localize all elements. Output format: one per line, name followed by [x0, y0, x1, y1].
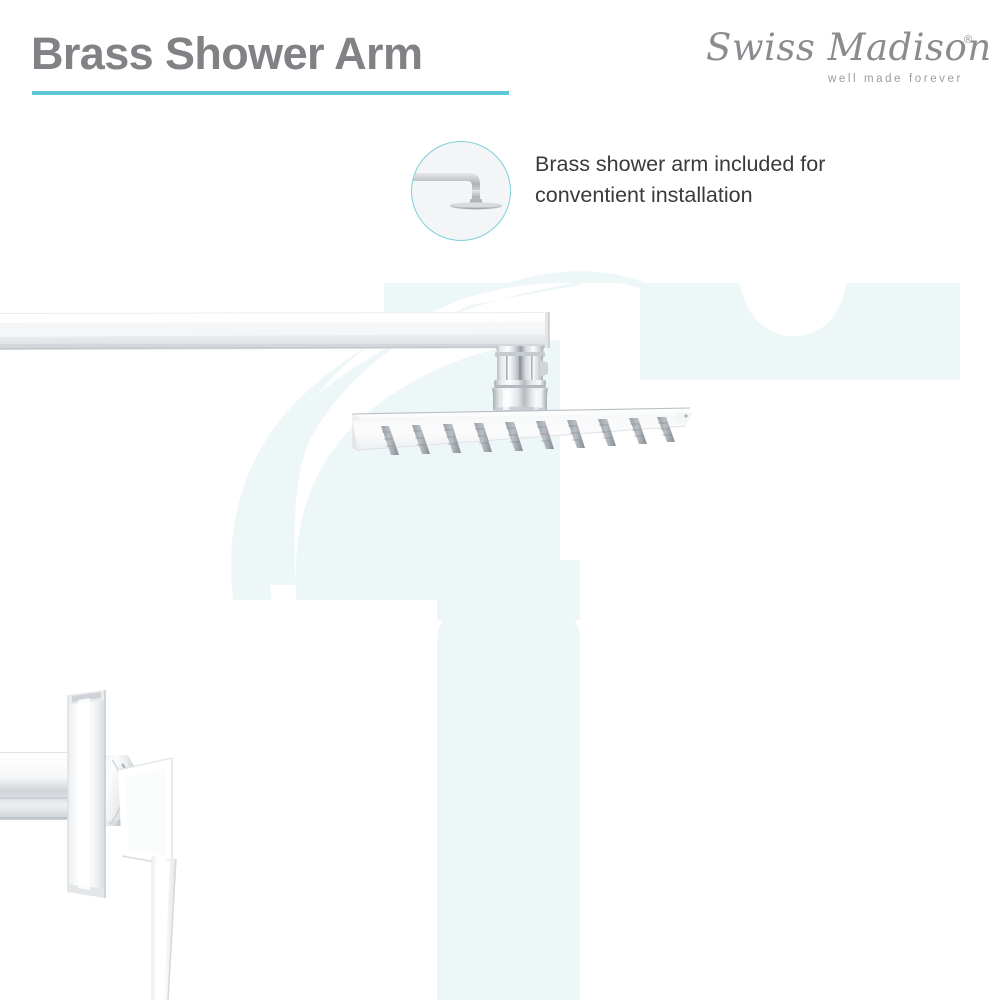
shower-arm-icon: [412, 142, 510, 240]
page-title: Brass Shower Arm: [31, 28, 422, 80]
supply-pipe: [0, 752, 72, 820]
escutcheon-plate: [68, 690, 105, 898]
feature-description: Brass shower arm included for conventien…: [535, 149, 891, 210]
product-shower-arm-and-head: [0, 290, 720, 490]
product-shower-valve-trim: [0, 660, 270, 1000]
lever-handle: [152, 856, 176, 1000]
feature-callout: Brass shower arm included for conventien…: [411, 141, 891, 251]
brand-logo: Swiss Madison® well made forever: [706, 26, 978, 88]
ball-joint-connector: [492, 346, 548, 414]
registered-trademark-icon: ®: [964, 34, 973, 46]
shower-arm: [0, 312, 549, 350]
trim-cover: [118, 758, 172, 865]
square-rainfall-showerhead: [352, 408, 692, 455]
brand-wordmark-text: Swiss Madison: [706, 26, 992, 69]
title-underline-rule: [32, 91, 509, 95]
product-marketing-image: Brass Shower Arm Swiss Madison® well mad…: [0, 0, 1000, 1000]
brand-wordmark: Swiss Madison®: [706, 26, 978, 74]
brand-tagline: well made forever: [828, 73, 963, 85]
feature-badge: [411, 141, 511, 241]
